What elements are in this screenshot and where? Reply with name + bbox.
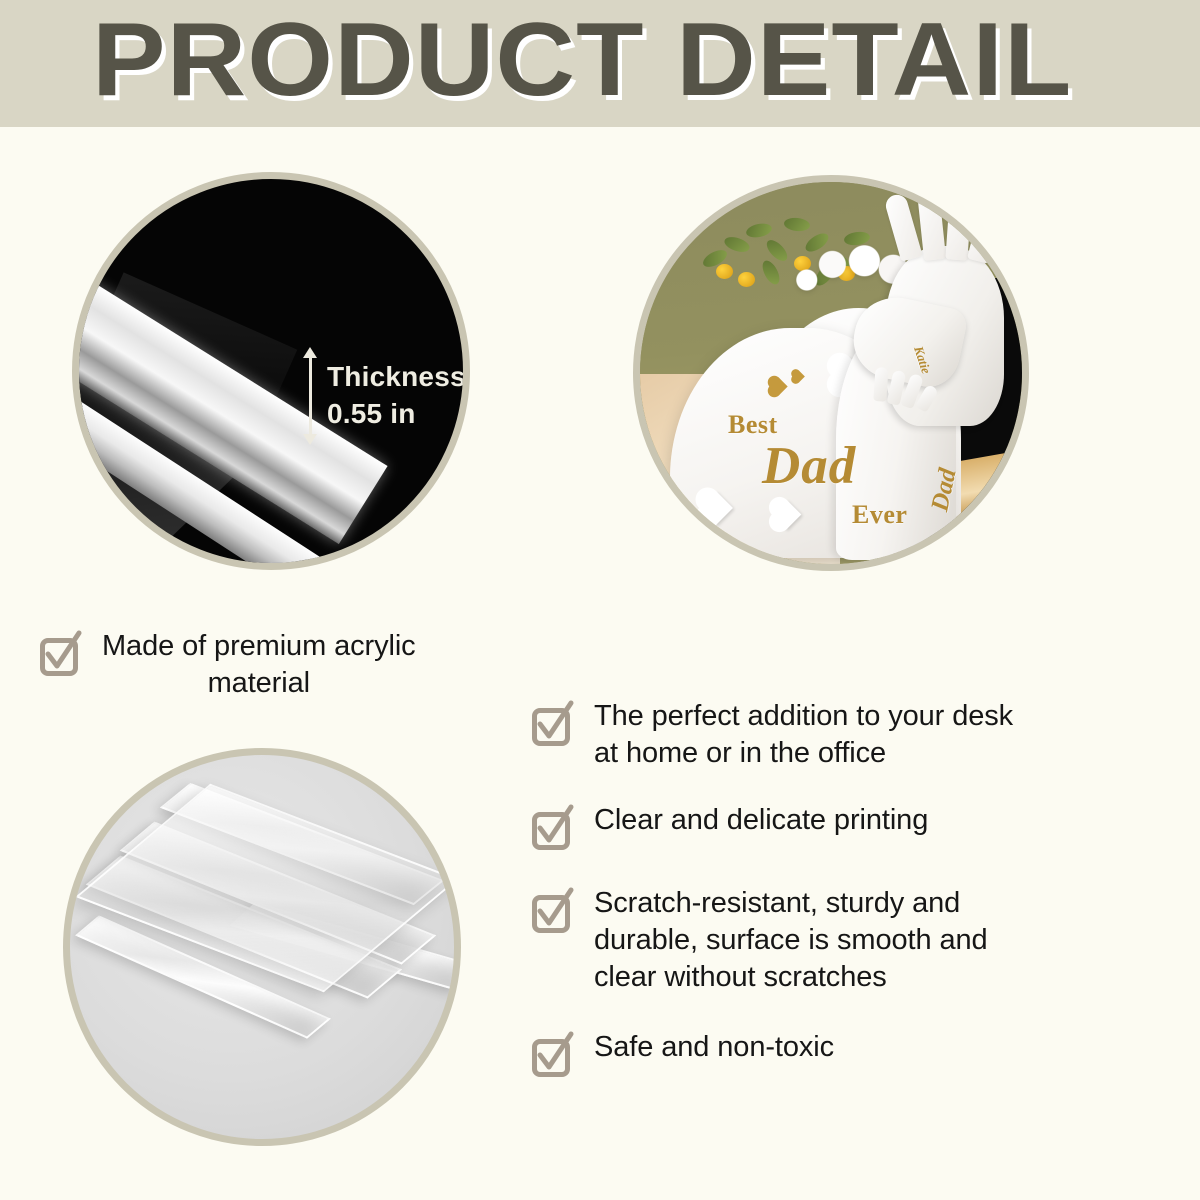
feature-label: The perfect addition to your desk at hom…	[594, 698, 1013, 772]
feature-item: Made of premium acrylic material	[38, 628, 558, 702]
checkbox-check-icon	[530, 804, 576, 850]
feature-label: Safe and non-toxic	[594, 1029, 834, 1066]
feature-item: Scratch-resistant, sturdy and durable, s…	[530, 885, 1190, 996]
double-arrow-vertical-icon	[303, 347, 317, 445]
checkbox-check-icon	[530, 1031, 576, 1077]
thickness-annotation: Thickness 0.55 in	[303, 347, 466, 445]
heart-text-ever: Ever	[852, 500, 907, 530]
heart-text-dad: Dad	[762, 436, 856, 496]
acrylic-sheets-photo-circle	[63, 748, 461, 1146]
feature-label: Scratch-resistant, sturdy and durable, s…	[594, 885, 988, 996]
header-band: PRODUCT DETAIL	[0, 0, 1200, 127]
gold-heart-accent	[792, 370, 805, 383]
feature-item: Clear and delicate printing	[530, 802, 1190, 850]
raised-heart	[772, 500, 802, 530]
feature-item: The perfect addition to your desk at hom…	[530, 698, 1190, 772]
feature-item: Safe and non-toxic	[530, 1029, 1190, 1077]
checkbox-check-icon	[530, 887, 576, 933]
page-title: PRODUCT DETAIL	[92, 4, 1072, 116]
thickness-label: Thickness 0.55 in	[327, 359, 466, 433]
feature-label: Made of premium acrylic material	[102, 628, 416, 702]
thickness-photo-circle: Thickness 0.55 in	[72, 172, 470, 570]
product-photo-circle: Best Dad Ever Katie Dad	[633, 175, 1029, 571]
checkbox-check-icon	[38, 630, 84, 676]
feature-label: Clear and delicate printing	[594, 802, 928, 839]
gold-heart-accent	[769, 377, 787, 395]
checkbox-check-icon	[530, 700, 576, 746]
raised-heart	[699, 491, 733, 525]
